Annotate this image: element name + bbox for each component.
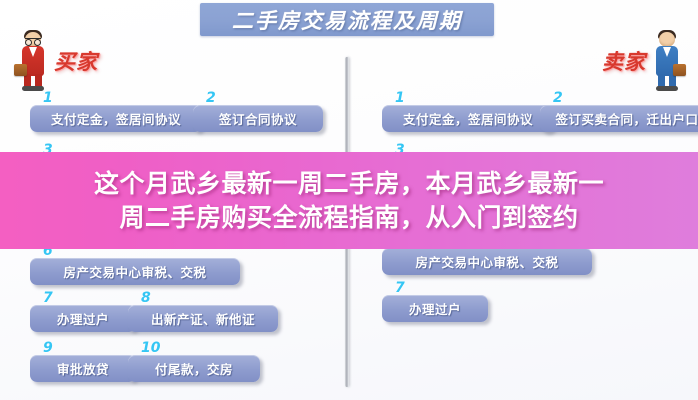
buyer-briefcase-icon xyxy=(14,64,27,76)
step-number-badge: 10 xyxy=(141,340,160,356)
chart-title-banner: 二手房交易流程及周期 xyxy=(200,3,494,36)
flow-step-seller-2: 2签订买卖合同，迁出户口 xyxy=(540,105,698,132)
flow-step-seller-1: 1支付定金，签居间协议 xyxy=(382,105,554,132)
flow-step-buyer-8: 8出新产证、新他证 xyxy=(128,305,278,332)
step-number-badge: 1 xyxy=(43,90,53,106)
step-label: 支付定金，签居间协议 xyxy=(403,109,533,128)
step-label: 签订买卖合同，迁出户口 xyxy=(555,109,698,128)
flow-step-buyer-6: 6房产交易中心审税、交税 xyxy=(30,258,240,285)
infographic-canvas: 二手房交易流程及周期 买家 卖家 1支付定金，签居间协议2签订 xyxy=(0,0,698,400)
page-title: 二手房交易流程及周期 xyxy=(232,5,462,35)
step-label: 付尾款，交房 xyxy=(155,359,233,378)
step-number-badge: 2 xyxy=(553,90,563,106)
flow-step-buyer-10: 10付尾款，交房 xyxy=(128,355,260,382)
step-label: 房产交易中心审税、交税 xyxy=(63,262,206,281)
flow-step-buyer-7: 7办理过户 xyxy=(30,305,136,332)
seller-head xyxy=(659,32,675,47)
flow-step-seller-6: 6房产交易中心审税、交税 xyxy=(382,248,592,275)
step-number-badge: 8 xyxy=(141,290,151,306)
step-label: 签订合同协议 xyxy=(219,109,297,128)
actor-seller-label: 卖家 xyxy=(602,46,646,76)
step-number-badge: 9 xyxy=(43,340,53,356)
step-label: 支付定金，签居间协议 xyxy=(51,109,181,128)
flow-step-buyer-1: 1支付定金，签居间协议 xyxy=(30,105,202,132)
seller-shoes xyxy=(656,86,678,91)
caption-line-1: 这个月武乡最新一周二手房，本月武乡最新一 xyxy=(94,168,604,200)
step-number-badge: 7 xyxy=(43,290,53,306)
step-number-badge: 2 xyxy=(206,90,216,106)
actor-seller: 卖家 xyxy=(602,30,684,92)
actor-buyer: 买家 xyxy=(16,30,98,92)
step-number-badge: 7 xyxy=(395,280,405,296)
step-label: 出新产证、新他证 xyxy=(151,309,255,328)
step-number-badge: 1 xyxy=(395,90,405,106)
buyer-figure-icon xyxy=(16,30,50,92)
seller-figure-icon xyxy=(650,30,684,92)
caption-line-2: 周二手房购买全流程指南，从入门到签约 xyxy=(119,202,578,234)
buyer-shoes xyxy=(22,86,44,91)
step-label: 办理过户 xyxy=(409,299,461,318)
step-label: 房产交易中心审税、交税 xyxy=(415,252,558,271)
step-label: 办理过户 xyxy=(57,309,109,328)
seller-handbag-icon xyxy=(673,64,686,76)
step-label: 审批放贷 xyxy=(57,359,109,378)
flow-step-buyer-9: 9审批放贷 xyxy=(30,355,136,382)
flow-step-buyer-2: 2签订合同协议 xyxy=(193,105,323,132)
flow-step-seller-7: 7办理过户 xyxy=(382,295,488,322)
actor-buyer-label: 买家 xyxy=(54,46,98,76)
buyer-glasses-icon xyxy=(25,38,41,45)
caption-overlay-band: 这个月武乡最新一周二手房，本月武乡最新一 周二手房购买全流程指南，从入门到签约 xyxy=(0,152,698,249)
